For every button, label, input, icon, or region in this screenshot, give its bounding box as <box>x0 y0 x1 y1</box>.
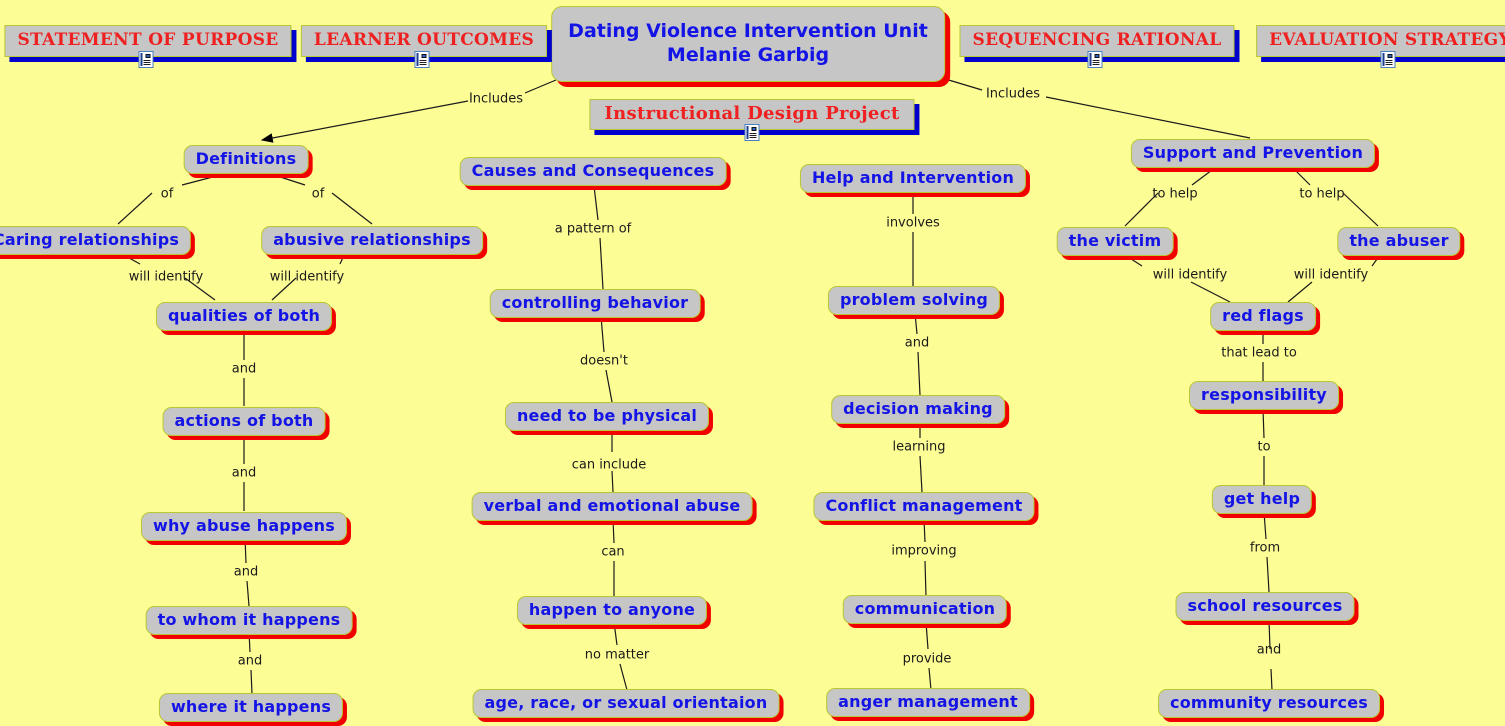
link-victim-willidentify-b <box>1191 282 1230 302</box>
node-decision-making[interactable]: decision making <box>831 395 1005 424</box>
document-icon-line <box>420 62 427 63</box>
link-towhom-and-b <box>251 670 252 694</box>
document-icon-line <box>1386 62 1393 63</box>
link-support-tohelp-right-a <box>1292 167 1310 185</box>
map-title-line-2: Melanie Garbig <box>568 44 928 68</box>
document-icon[interactable] <box>415 51 430 68</box>
map-title-node[interactable]: Dating Violence Intervention Unit Melani… <box>551 6 945 82</box>
link-label-will-identify-right: will identify <box>270 271 344 284</box>
link-label-and-1: and <box>232 363 256 376</box>
document-icon-thumb <box>1388 54 1393 58</box>
link-happen-nomatter-b <box>620 664 627 690</box>
node-causes-and-consequences[interactable]: Causes and Consequences <box>460 157 727 186</box>
link-label-can-include: can include <box>572 459 647 472</box>
document-icon-line <box>144 60 151 61</box>
node-the-victim[interactable]: the victim <box>1057 227 1174 256</box>
document-icon[interactable] <box>139 51 154 68</box>
link-problem-and-a <box>915 313 917 334</box>
node-responsibility[interactable]: responsibility <box>1189 381 1339 410</box>
link-communication-provide-a <box>926 622 928 649</box>
link-definitions-of-left-b <box>118 193 152 224</box>
document-icon-line <box>1386 64 1393 65</box>
link-label-provide: provide <box>903 653 952 666</box>
link-need-caninclude-b <box>612 471 613 492</box>
link-label-to-help-left: to help <box>1152 188 1197 201</box>
document-icon-line <box>1093 60 1100 61</box>
link-decision-learning-b <box>920 456 922 492</box>
node-age-race-or-sexual-orientaion[interactable]: age, race, or sexual orientaion <box>473 689 780 718</box>
document-icon-line <box>1093 62 1100 63</box>
node-qualities-of-both[interactable]: qualities of both <box>156 302 332 331</box>
concept-map-canvas: Dating Violence Intervention Unit Melani… <box>0 0 1505 726</box>
link-gethelp-from-b <box>1267 557 1269 592</box>
link-label-can: can <box>601 546 624 559</box>
link-victim-willidentify-a <box>1125 255 1142 266</box>
link-definitions-of-right-a <box>268 173 305 185</box>
link-gethelp-from-a <box>1264 512 1266 539</box>
link-label-will-identify-abuser: will identify <box>1294 269 1368 282</box>
node-anger-management[interactable]: anger management <box>826 688 1030 717</box>
document-icon-thumb <box>752 127 757 131</box>
node-the-abuser[interactable]: the abuser <box>1337 227 1460 256</box>
link-label-and-2: and <box>232 467 256 480</box>
document-icon-line <box>1093 64 1100 65</box>
node-communication[interactable]: communication <box>843 595 1007 624</box>
link-abuser-willidentify-a <box>1372 255 1380 266</box>
node-actions-of-both[interactable]: actions of both <box>163 407 326 436</box>
link-causes-pattern-b <box>600 238 603 289</box>
link-label-and-4: and <box>238 655 262 668</box>
link-communication-provide-b <box>929 668 931 690</box>
node-abusive-relationships[interactable]: abusive relationships <box>261 226 483 255</box>
node-verbal-and-emotional-abuse[interactable]: verbal and emotional abuse <box>472 492 753 521</box>
document-icon-line <box>420 60 427 61</box>
link-towhom-and-a <box>249 632 250 652</box>
document-icon-line <box>144 62 151 63</box>
document-icon-line <box>420 64 427 65</box>
link-school-and-b <box>1271 669 1272 690</box>
link-label-of-left: of <box>161 188 174 201</box>
node-support-and-prevention[interactable]: Support and Prevention <box>1131 139 1375 168</box>
link-definitions-of-right-b <box>332 193 372 224</box>
link-conflict-improving-b <box>925 561 926 596</box>
node-where-it-happens[interactable]: where it happens <box>159 693 343 722</box>
link-label-from: from <box>1250 542 1280 555</box>
node-to-whom-it-happens[interactable]: to whom it happens <box>146 606 353 635</box>
link-why-and-b <box>247 581 249 606</box>
link-label-and-5: and <box>905 337 929 350</box>
node-community-resources[interactable]: community resources <box>1158 689 1380 718</box>
link-title-includes-right-b <box>1046 97 1250 138</box>
link-support-tohelp-right-b <box>1343 193 1378 226</box>
link-controlling-doesnt-b <box>606 370 612 402</box>
link-label-involves: involves <box>886 217 940 230</box>
link-title-includes-left-b <box>262 101 468 140</box>
link-label-and-3: and <box>234 566 258 579</box>
link-responsibility-to-a <box>1263 409 1264 438</box>
node-red-flags[interactable]: red flags <box>1210 302 1316 331</box>
link-abuser-willidentify-b <box>1288 282 1312 302</box>
node-why-abuse-happens[interactable]: why abuse happens <box>141 512 347 541</box>
link-label-to: to <box>1257 441 1270 454</box>
link-label-improving: improving <box>891 545 956 558</box>
link-definitions-of-left-a <box>182 173 228 185</box>
link-label-of-right: of <box>312 188 325 201</box>
link-label-will-identify-victim: will identify <box>1153 269 1227 282</box>
link-label-includes-left: Includes <box>469 93 523 106</box>
link-label-includes-right: Includes <box>986 88 1040 101</box>
link-label-learning: learning <box>892 441 945 454</box>
document-icon-line <box>1386 60 1393 61</box>
link-verbal-can-a <box>613 519 614 543</box>
link-conflict-improving-a <box>924 519 925 542</box>
document-icon[interactable] <box>1381 51 1396 68</box>
link-problem-and-b <box>918 352 920 395</box>
link-label-will-identify-left: will identify <box>129 271 203 284</box>
link-label-and-6: and <box>1257 644 1281 657</box>
document-icon-thumb <box>1095 54 1100 58</box>
document-icon[interactable] <box>745 124 760 141</box>
link-support-tohelp-left-a <box>1192 167 1216 185</box>
node-help-and-intervention[interactable]: Help and Intervention <box>800 164 1026 193</box>
link-causes-pattern-a <box>594 186 598 220</box>
node-happen-to-anyone[interactable]: happen to anyone <box>517 596 707 625</box>
node-get-help[interactable]: get help <box>1212 485 1312 514</box>
link-label-that-lead-to: that lead to <box>1221 347 1297 360</box>
node-school-resources[interactable]: school resources <box>1175 592 1354 621</box>
node-caring-relationships[interactable]: Caring relationships <box>0 226 191 255</box>
document-icon-line <box>750 137 757 138</box>
node-definitions[interactable]: Definitions <box>184 145 309 174</box>
link-label-no-matter: no matter <box>585 649 650 662</box>
document-icon-thumb <box>422 54 427 58</box>
link-label-doesnt: doesn't <box>580 355 628 368</box>
document-icon-line <box>750 135 757 136</box>
map-title-line-1: Dating Violence Intervention Unit <box>568 20 928 44</box>
link-happen-nomatter-a <box>614 622 617 645</box>
link-label-to-help-right: to help <box>1299 188 1344 201</box>
link-controlling-doesnt-a <box>601 316 604 352</box>
node-controlling-behavior[interactable]: controlling behavior <box>490 289 701 318</box>
node-need-to-be-physical[interactable]: need to be physical <box>505 402 709 431</box>
document-icon-line <box>144 64 151 65</box>
document-icon-line <box>750 133 757 134</box>
node-problem-solving[interactable]: problem solving <box>828 286 1000 315</box>
node-conflict-management[interactable]: Conflict management <box>813 492 1034 521</box>
link-label-a-pattern-of: a pattern of <box>555 223 632 236</box>
document-icon-thumb <box>146 54 151 58</box>
document-icon[interactable] <box>1088 51 1103 68</box>
